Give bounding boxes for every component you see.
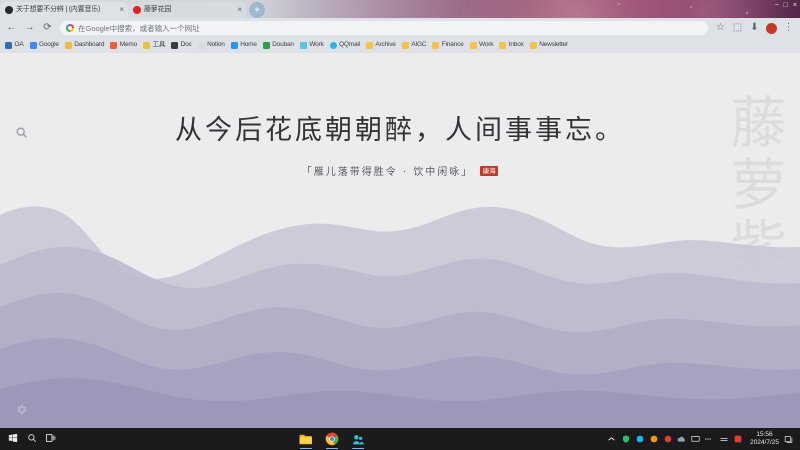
bookmark-icon (300, 42, 307, 49)
p-icon[interactable] (649, 435, 658, 444)
menu-icon[interactable]: ⋮ (783, 23, 794, 34)
download-icon[interactable]: ⬇ (749, 23, 760, 34)
bookmark-label: Work (479, 42, 493, 49)
folder-icon (432, 42, 439, 49)
folder-icon (530, 42, 537, 49)
quote-source-row: 「雁儿落带得胜令 · 饮中闲咏」 康海 (0, 163, 800, 178)
star-icon[interactable]: ☆ (715, 23, 726, 34)
shield-icon[interactable] (621, 435, 630, 444)
file-explorer-icon[interactable] (295, 429, 317, 449)
bookmark-label: QQmail (339, 42, 360, 49)
new-tab-button[interactable]: + (249, 2, 265, 18)
bookmark-icon (330, 42, 337, 49)
bookmark-label: Doc (181, 42, 192, 49)
extensions-icon[interactable]: ⬚ (732, 23, 743, 34)
bookmark-item[interactable]: Doc (171, 42, 191, 49)
tab-strip: 关于想要不分辨 | (内置音乐) × 藤萝花园 × + − □ × (0, 0, 800, 18)
bookmark-icon (263, 42, 270, 49)
window-controls: − □ × (775, 2, 797, 9)
taskbar-apps (57, 429, 607, 449)
bookmark-icon (65, 42, 72, 49)
windows-taskbar: 15:56 2024/7/25 (0, 428, 800, 450)
back-icon[interactable]: ← (6, 23, 17, 34)
bookmark-item[interactable]: Memo (110, 42, 137, 49)
g-icon[interactable] (663, 435, 672, 444)
address-bar-text: 在Google中搜索，或者输入一个网址 (78, 23, 200, 34)
quote-source-text: 「雁儿落带得胜令 · 饮中闲咏」 (302, 163, 474, 178)
cloud-icon[interactable] (677, 435, 686, 444)
folder-icon (499, 42, 506, 49)
quote-block: 从今后花底朝朝醉，人间事事忘。 「雁儿落带得胜令 · 饮中闲咏」 康海 (0, 113, 800, 178)
bookmark-item[interactable]: Notion (198, 42, 225, 49)
taskbar-clock[interactable]: 15:56 2024/7/25 (750, 431, 779, 447)
google-chrome-icon[interactable] (321, 429, 343, 449)
bookmark-item[interactable]: Dashboard (65, 42, 105, 49)
bookmark-label: Finance (442, 42, 464, 49)
bookmark-label: AIGC (411, 42, 426, 49)
maximize-button[interactable]: □ (784, 2, 788, 9)
system-tray: 15:56 2024/7/25 (607, 431, 796, 447)
github-icon (5, 6, 13, 14)
bookmark-label: Inbox (509, 42, 524, 49)
bookmark-item[interactable]: Google (30, 42, 59, 49)
bookmark-label: Home (240, 42, 257, 49)
bookmark-label: 工具 (153, 42, 166, 49)
author-seal: 康海 (480, 166, 498, 177)
close-window-button[interactable]: × (793, 2, 797, 9)
taskbar-left (4, 433, 57, 445)
tab-title: 藤萝花园 (144, 2, 234, 18)
tab-0[interactable]: 关于想要不分辨 | (内置音乐) × (0, 2, 128, 18)
address-bar[interactable]: 在Google中搜索，或者输入一个网址 (60, 21, 708, 35)
qq-icon[interactable] (635, 435, 644, 444)
bookmark-icon (143, 42, 150, 49)
gear-icon[interactable] (12, 400, 30, 418)
bookmark-label: Douban (272, 42, 294, 49)
bookmark-label: Google (39, 42, 59, 49)
page-content: 藤萝紫 从今后花底朝朝醉，人间事事忘。 「雁儿落带得胜令 · 饮中闲咏」 康海 (0, 53, 800, 428)
bookmarks-bar: OA Google Dashboard Memo 工具 Doc Notion H… (0, 38, 800, 53)
minimize-button[interactable]: − (775, 2, 779, 9)
clock-time: 15:56 (750, 431, 779, 439)
screen: 关于想要不分辨 | (内置音乐) × 藤萝花园 × + − □ × ← → ⟳ … (0, 0, 800, 450)
bookmark-icon (30, 42, 37, 49)
tab-1[interactable]: 藤萝花园 × (128, 2, 246, 18)
search-icon[interactable] (27, 433, 37, 445)
mountain-illustration (0, 203, 800, 428)
bookmark-item[interactable]: Douban (263, 42, 294, 49)
bookmark-item[interactable]: AIGC (402, 42, 427, 49)
bookmark-label: Dashboard (74, 42, 104, 49)
windows-start-icon[interactable] (8, 433, 18, 445)
clock-date: 2024/7/25 (750, 439, 779, 447)
bookmark-item[interactable]: Inbox (499, 42, 523, 49)
bookmark-item[interactable]: OA (5, 42, 24, 49)
close-icon[interactable]: × (119, 6, 124, 14)
folder-icon (470, 42, 477, 49)
bookmark-icon (231, 42, 238, 49)
bookmark-label: Archive (375, 42, 395, 49)
circle-red-icon (133, 6, 141, 14)
s-icon[interactable] (733, 435, 742, 444)
bookmark-label: Memo (120, 42, 137, 49)
toolbar-actions: ☆ ⬚ ⬇ ⋮ (715, 23, 794, 34)
bookmark-item[interactable]: Newsletter (530, 42, 568, 49)
bookmark-item[interactable]: QQmail (330, 42, 360, 49)
app-teal-icon[interactable] (347, 429, 369, 449)
tab-title: 关于想要不分辨 | (内置音乐) (16, 2, 116, 18)
bookmark-label: Work (309, 42, 323, 49)
bookmark-item[interactable]: Finance (432, 42, 463, 49)
search-icon[interactable] (12, 123, 30, 141)
avatar[interactable] (766, 23, 777, 34)
bookmark-label: OA (15, 42, 24, 49)
bookmark-icon (5, 42, 12, 49)
bookmark-icon (110, 42, 117, 49)
input-method-icon[interactable] (705, 435, 714, 444)
bookmark-item[interactable]: Home (231, 42, 257, 49)
close-icon[interactable]: × (237, 6, 242, 14)
quote-main-text: 从今后花底朝朝醉，人间事事忘。 (0, 113, 800, 149)
bookmark-label: Newsletter (539, 42, 568, 49)
task-view-icon[interactable] (46, 433, 57, 445)
bookmark-label: Notion (207, 42, 225, 49)
forward-icon[interactable]: → (24, 23, 35, 34)
folder-icon (402, 42, 409, 49)
bookmark-item[interactable]: Work (300, 42, 324, 49)
browser-toolbar: ← → ⟳ 在Google中搜索，或者输入一个网址 ☆ ⬚ ⬇ ⋮ (0, 18, 800, 38)
google-icon (66, 24, 74, 32)
tilde-icon[interactable] (719, 435, 728, 444)
bookmark-icon (198, 42, 205, 49)
bookmark-icon (171, 42, 178, 49)
browser-window: 关于想要不分辨 | (内置音乐) × 藤萝花园 × + − □ × ← → ⟳ … (0, 0, 800, 428)
bookmark-item[interactable]: Work (470, 42, 494, 49)
folder-icon (366, 42, 373, 49)
notification-icon[interactable] (784, 435, 793, 444)
chevron-up-icon[interactable] (607, 435, 616, 444)
bookmark-item[interactable]: 工具 (143, 42, 165, 49)
bookmark-item[interactable]: Archive (366, 42, 396, 49)
monitor-icon[interactable] (691, 435, 700, 444)
reload-icon[interactable]: ⟳ (42, 23, 53, 34)
